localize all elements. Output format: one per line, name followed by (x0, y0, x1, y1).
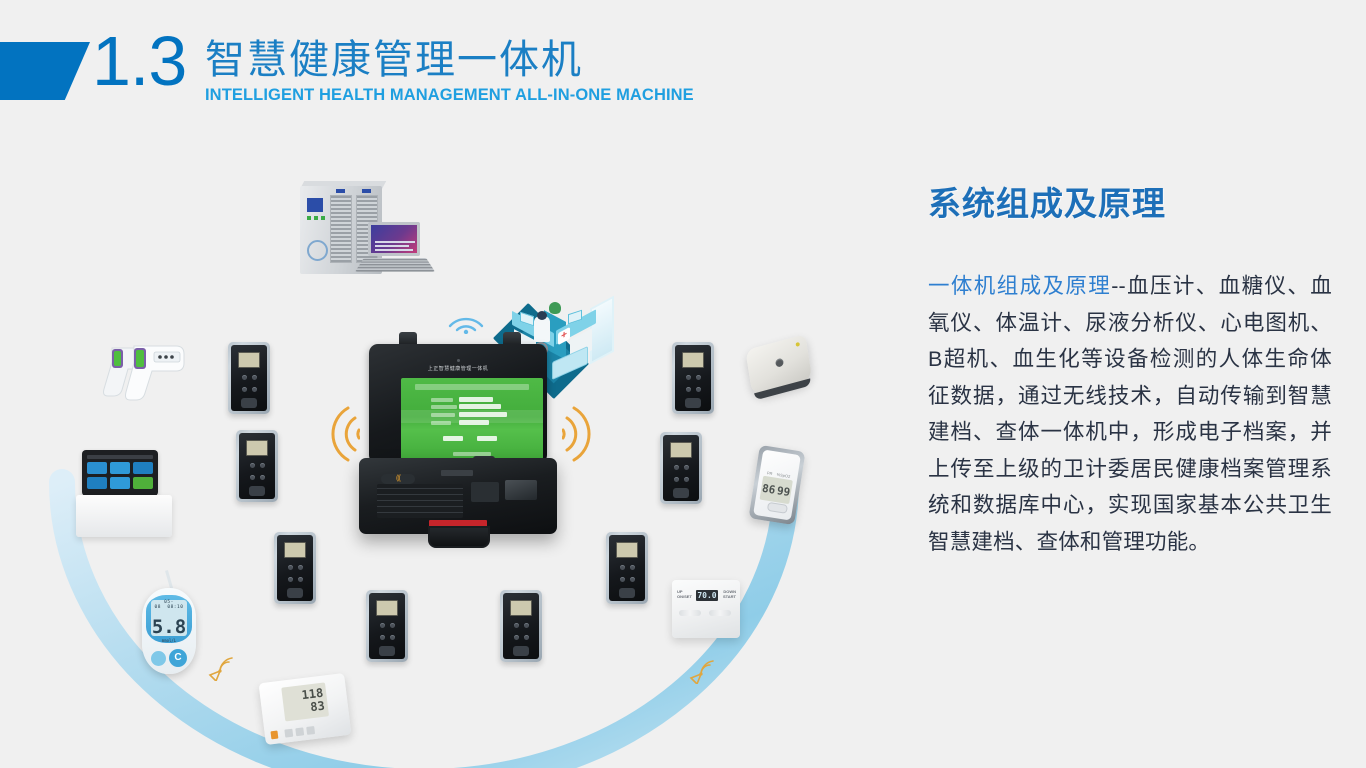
probe-led (795, 342, 799, 347)
tablet-app-icon-1[interactable] (87, 462, 107, 474)
handheld-monitor-pad[interactable] (287, 588, 303, 598)
screen-label-2 (431, 405, 457, 409)
system-diagram: + 上正智慧健康管理一体机 (0, 130, 920, 768)
section-number: 1.3 (92, 26, 186, 96)
screen-button-1 (443, 436, 463, 441)
handheld-monitor-buttons-2[interactable] (503, 635, 539, 640)
screen-field-1 (459, 397, 493, 402)
screen-label-4 (431, 421, 451, 425)
bp-button-2[interactable] (295, 727, 304, 736)
laptop-screen (368, 222, 420, 256)
laptop-keyboard (355, 258, 435, 272)
server-bay-clip-2 (362, 189, 371, 193)
clinic-doctor-head (537, 311, 547, 320)
handheld-monitor-buttons-2[interactable] (239, 475, 275, 480)
scale-body: UPON/SET 70.0 DOWNSTART (672, 580, 740, 638)
handheld-monitor[interactable] (606, 532, 648, 604)
oximeter-power-button[interactable] (767, 502, 788, 514)
content-panel: 系统组成及原理 一体机组成及原理--血压计、血糖仪、血氧仪、体温计、尿液分析仪、… (928, 185, 1332, 560)
case-handle[interactable] (428, 526, 490, 548)
handheld-monitor-screen (670, 442, 692, 458)
glucose-button-power[interactable] (151, 651, 166, 666)
tablet-screen[interactable] (82, 450, 158, 496)
handheld-monitor[interactable] (274, 532, 316, 604)
scale-label-right: DOWNSTART (723, 589, 736, 599)
case-lid: 上正智慧健康管理一体机 (369, 344, 547, 464)
screen-field-4 (459, 420, 489, 425)
pulse-oximeter[interactable]: PR %SpO2 86 99 (754, 448, 800, 522)
case-brand-text: 上正智慧健康管理一体机 (369, 365, 547, 372)
handheld-monitor-buttons-1[interactable] (503, 623, 539, 628)
handheld-monitor-face (609, 535, 645, 601)
case-camera (457, 359, 460, 362)
bp-button-1[interactable] (284, 729, 293, 738)
case-keyboard[interactable] (377, 484, 463, 518)
handheld-monitor[interactable] (236, 430, 278, 502)
glucose-reading: 5.8 (151, 617, 187, 638)
glucose-display-header: 05-08 08:10 (151, 600, 187, 610)
handheld-monitor-face (277, 535, 313, 601)
oximeter-face: PR %SpO2 86 99 (753, 449, 801, 520)
oximeter-spo2-reading: 99 (776, 484, 791, 499)
handheld-monitor-buttons-2[interactable] (675, 387, 711, 392)
handheld-monitor-buttons-1[interactable] (675, 375, 711, 380)
tablet-dock (76, 495, 172, 537)
panel-body-text: --血压计、血糖仪、血氧仪、体温计、尿液分析仪、心电图机、B超机、血生化等设备检… (928, 274, 1332, 554)
tablet-statusbar (87, 455, 153, 459)
probe-body (745, 334, 812, 398)
handheld-monitor-buttons-2[interactable] (277, 577, 313, 582)
handheld-monitor[interactable] (660, 432, 702, 504)
handheld-monitor-face (675, 345, 711, 411)
handheld-monitor-pad[interactable] (685, 398, 701, 408)
handheld-monitor-screen (616, 542, 638, 558)
section-title-cn: 智慧健康管理一体机 (205, 38, 583, 82)
screen-label-1 (431, 398, 453, 402)
screen-field-2 (459, 404, 501, 409)
clinic-plant (549, 302, 561, 314)
handheld-monitor-buttons-2[interactable] (609, 577, 645, 582)
handheld-monitor[interactable] (672, 342, 714, 414)
screen-titlebar (415, 384, 529, 390)
bp-monitor-display: 118 83 (281, 682, 329, 721)
rugged-all-in-one-case[interactable]: 上正智慧健康管理一体机 (355, 330, 561, 556)
handheld-monitor[interactable] (366, 590, 408, 662)
glucose-button-confirm[interactable]: C (169, 649, 187, 667)
infrared-thermometer (82, 338, 192, 418)
handheld-monitor-face (663, 435, 699, 501)
oximeter-body: PR %SpO2 86 99 (748, 445, 805, 525)
signal-arc-left (318, 402, 360, 466)
handheld-monitor-buttons-1[interactable] (239, 463, 275, 468)
bp-monitor-body: 118 83 (259, 673, 352, 745)
tablet-app-icon-6[interactable] (133, 477, 153, 489)
handheld-monitor-pad[interactable] (379, 646, 395, 656)
handheld-monitor-face (503, 593, 539, 659)
handheld-monitor-buttons-1[interactable] (609, 565, 645, 570)
glucose-unit: mmol/L (151, 638, 187, 643)
handheld-monitor-screen (682, 352, 704, 368)
server-display (307, 198, 323, 212)
bp-button-row[interactable] (284, 726, 315, 738)
tablet-terminal[interactable] (82, 450, 172, 537)
scale-display: 70.0 (696, 590, 718, 601)
handheld-monitor-buttons-2[interactable] (231, 387, 267, 392)
panel-heading: 系统组成及原理 (928, 185, 1332, 223)
server-drive-bay-1 (330, 195, 352, 263)
mini-signal-icon-left (207, 655, 233, 681)
handheld-monitor-face (231, 345, 267, 411)
probe-lens (775, 358, 784, 368)
handheld-monitor-screen (376, 600, 398, 616)
handheld-monitor-screen (246, 440, 268, 456)
weight-scale[interactable]: UPON/SET 70.0 DOWNSTART (672, 580, 740, 638)
tablet-app-icon-4[interactable] (87, 477, 107, 489)
panel-body: 一体机组成及原理--血压计、血糖仪、血氧仪、体温计、尿液分析仪、心电图机、B超机… (928, 268, 1332, 560)
oximeter-pr-label: PR (767, 470, 773, 476)
screen-button-2 (477, 436, 497, 441)
handheld-monitor-face (239, 433, 275, 499)
scale-label-left: UPON/SET (677, 589, 692, 599)
tablet-app-grid[interactable] (87, 462, 153, 489)
tablet-app-icon-3[interactable] (133, 462, 153, 474)
handheld-monitor-buttons-1[interactable] (231, 375, 267, 380)
handheld-monitor-buttons-1[interactable] (277, 565, 313, 570)
scale-button-left[interactable] (679, 610, 701, 616)
case-port-strip (441, 470, 473, 476)
handheld-monitor-pad[interactable] (241, 398, 257, 408)
handheld-monitor-buttons-2[interactable] (663, 477, 699, 482)
handheld-probe-scanner[interactable] (748, 342, 810, 390)
blood-pressure-monitor[interactable]: 118 83 (262, 678, 348, 740)
handheld-monitor-pad[interactable] (673, 488, 689, 498)
handheld-monitor-face (369, 593, 405, 659)
handheld-monitor-screen (510, 600, 532, 616)
slide-root: 1.3 智慧健康管理一体机 INTELLIGENT HEALTH MANAGEM… (0, 0, 1366, 768)
tablet-app-icon-5[interactable] (110, 477, 130, 489)
header-accent-bar (0, 42, 90, 100)
screen-label-3 (431, 413, 455, 417)
screen-field-3 (459, 412, 507, 417)
case-screen (401, 378, 543, 464)
bp-button-3[interactable] (306, 726, 315, 735)
nfc-reader-icon: ((( (381, 474, 415, 484)
handheld-monitor-buttons-1[interactable] (369, 623, 405, 628)
handheld-monitor-pad[interactable] (249, 486, 265, 496)
clinic-cabinet (590, 296, 614, 365)
server-leds (307, 216, 325, 220)
glucose-meter-body: 05-08 08:10 5.8 mmol/L C (142, 588, 196, 674)
handheld-monitor-buttons-1[interactable] (663, 465, 699, 470)
signal-arc-right (562, 402, 604, 466)
handheld-monitor[interactable] (500, 590, 542, 662)
handheld-monitor-screen (238, 352, 260, 368)
blood-glucose-meter[interactable]: 05-08 08:10 5.8 mmol/L C (142, 588, 196, 674)
server-and-laptop-icon (296, 178, 426, 278)
section-title-en: INTELLIGENT HEALTH MANAGEMENT ALL-IN-ONE… (205, 86, 694, 104)
handheld-monitor[interactable] (228, 342, 270, 414)
handheld-monitor-buttons-2[interactable] (369, 635, 405, 640)
panel-body-lead: 一体机组成及原理 (928, 274, 1111, 298)
tablet-app-icon-2[interactable] (110, 462, 130, 474)
server-power-knob (307, 240, 328, 261)
scale-button-right[interactable] (709, 610, 731, 616)
handheld-monitor-pad[interactable] (513, 646, 529, 656)
slide-header: 1.3 智慧健康管理一体机 INTELLIGENT HEALTH MANAGEM… (0, 0, 1366, 130)
handheld-monitor-pad[interactable] (619, 588, 635, 598)
bp-start-button[interactable] (270, 731, 278, 740)
glucose-meter-display: 05-08 08:10 5.8 mmol/L (151, 600, 187, 636)
case-card-reader[interactable] (505, 480, 537, 500)
handheld-monitor-screen (284, 542, 306, 558)
server-bay-clip-1 (336, 189, 345, 193)
mini-signal-icon-right (688, 658, 714, 684)
oximeter-display: 86 99 (760, 476, 793, 504)
oximeter-pr-reading: 86 (761, 481, 776, 496)
case-touchpad[interactable] (471, 482, 499, 502)
